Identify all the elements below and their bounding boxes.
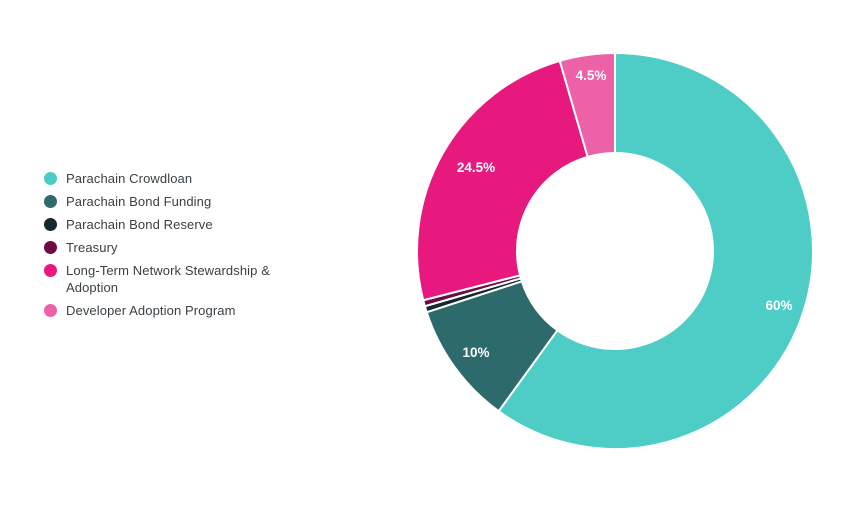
donut-svg: 60%10%24.5%4.5%	[0, 0, 860, 515]
slice-percentage-label: 10%	[462, 345, 489, 360]
donut-chart-plot-area: 60%10%24.5%4.5%	[0, 0, 860, 515]
donut-chart-figure: Parachain CrowdloanParachain Bond Fundin…	[0, 0, 860, 515]
donut-slice[interactable]	[417, 61, 588, 300]
slice-percentage-label: 4.5%	[576, 68, 607, 83]
slice-percentage-label: 24.5%	[457, 160, 495, 175]
slice-percentage-label: 60%	[765, 298, 792, 313]
